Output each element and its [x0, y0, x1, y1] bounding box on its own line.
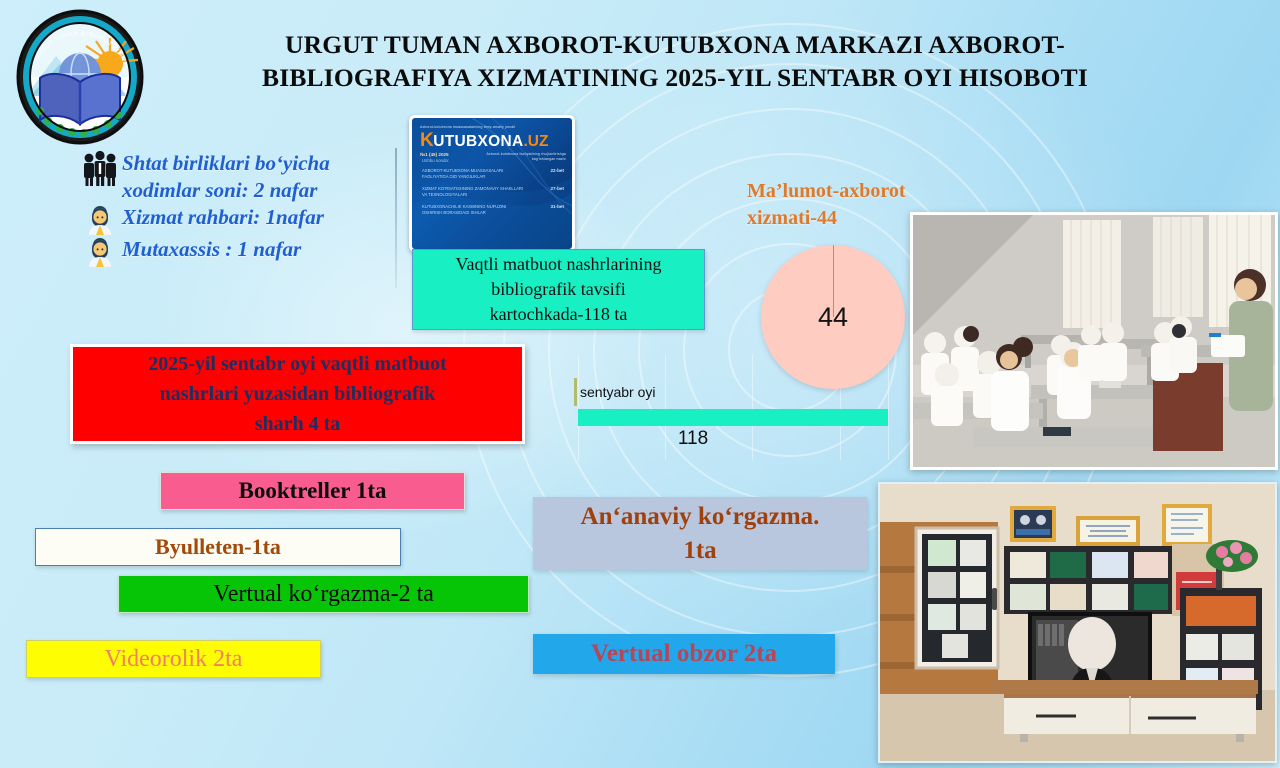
sharh-line-2: nashrlari yuzasidan bibliografik [148, 379, 447, 409]
group-of-people-icon [78, 150, 122, 188]
cover-item-text: KUTUBXONACHILIK KASBINING NUFUZINI OSHIR… [422, 204, 526, 215]
pie-title-line-1: Ma’lumot-axborot [747, 178, 977, 205]
stat-card-byulleten: Byulleten-1ta [35, 528, 401, 566]
sharh-line-3: sharh 4 ta [148, 409, 447, 439]
staff-item-head: Xizmat rahbari: 1nafar [78, 204, 408, 236]
pie-chart: 44 [761, 245, 905, 389]
ananaviy-line-1: An‘anaviy ko‘rgazma. [581, 500, 820, 534]
cover-masthead: Axborot-kutubxona muassasalarining ilmiy… [420, 125, 566, 162]
cover-brand-initial: K [420, 131, 433, 150]
cover-item-text: XIZMAT KO‘RSATISHNING ZAMONAVIY SHAKLLAR… [422, 186, 526, 197]
staff-headcount-line2: xodimlar soni: 2 nafar [122, 177, 330, 204]
cover-contents-item: KUTUBXONACHILIK KASBINING NUFUZINI OSHIR… [422, 204, 564, 215]
staff-item-headcount: Shtat birliklari bo‘yicha xodimlar soni:… [78, 150, 408, 204]
cover-item-page: 27-bet [550, 186, 564, 197]
stat-card-videorolik: Videorolik 2ta [26, 640, 321, 678]
title-line-2: BIBLIOGRAFIYA XIZMATINING 2025-YIL SENTA… [210, 61, 1140, 94]
stat-card-bibliografik-sharh: 2025-yil sentabr oyi vaqtli matbuot nash… [70, 344, 525, 444]
bar-chart-category-label: sentyabr oyi [580, 384, 655, 400]
stat-card-vertual-korgazma: Vertual ko‘rgazma-2 ta [118, 575, 529, 613]
library-emblem-logo: URGUT TUMAN AXBOROT-KUTUBXONA MARKAZI [14, 8, 146, 146]
page-title: URGUT TUMAN AXBOROT-KUTUBXONA MARKAZI AX… [210, 28, 1140, 94]
kartochka-line-3: kartochkada-118 ta [456, 302, 662, 327]
cover-contents: Ushbu sonda: AXBOROT-KUTUBXONA MUASSASAL… [422, 158, 564, 223]
staff-summary-block: Shtat birliklari bo‘yicha xodimlar soni:… [78, 150, 408, 268]
cover-item-text: AXBOROT-KUTUBXONA MUASSASALARI FAOLIYATI… [422, 168, 526, 179]
stat-card-booktreller: Booktreller 1ta [160, 472, 465, 510]
kutubxona-uz-journal-cover: Axborot-kutubxona muassasalarining ilmiy… [409, 115, 575, 252]
female-worker-icon [78, 204, 122, 236]
pie-data-label: 44 [761, 245, 905, 389]
bar-chart-bar [578, 409, 888, 426]
bar-chart-data-label: 118 [578, 428, 808, 450]
kartochka-line-2: bibliografik tavsifi [456, 277, 662, 302]
staff-headcount-text: Shtat birliklari bo‘yicha xodimlar soni:… [122, 150, 330, 204]
title-line-1: URGUT TUMAN AXBOROT-KUTUBXONA MARKAZI AX… [210, 28, 1140, 61]
infographic-poster: URGUT TUMAN AXBOROT-KUTUBXONA MARKAZI UR… [0, 0, 1280, 768]
cover-item-page: 22-bet [550, 168, 564, 179]
book-exhibition-display-photo [878, 482, 1277, 763]
stat-card-vertual-obzor: Vertual obzor 2ta [533, 634, 835, 674]
staff-item-specialist: Mutaxassis : 1 nafar [78, 236, 408, 268]
staff-headcount-line1: Shtat birliklari bo‘yicha [122, 150, 330, 177]
sharh-line-1: 2025-yil sentabr oyi vaqtli matbuot [148, 349, 447, 379]
cover-contents-item: XIZMAT KO‘RSATISHNING ZAMONAVIY SHAKLLAR… [422, 186, 564, 197]
cover-contents-label: Ushbu sonda: [422, 158, 564, 163]
cover-brand-word: UTUBXONA [433, 133, 523, 150]
kartochka-line-1: Vaqtli matbuot nashrlarining [456, 252, 662, 277]
vertical-divider [395, 148, 397, 288]
cover-contents-item: AXBOROT-KUTUBXONA MUASSASALARI FAOLIYATI… [422, 168, 564, 179]
ananaviy-line-2: 1ta [581, 534, 820, 568]
staff-specialist-text: Mutaxassis : 1 nafar [122, 236, 301, 263]
cover-tagline: Axborot-kutubxona muassasalarining ilmiy… [420, 125, 566, 130]
stat-card-kartochka: Vaqtli matbuot nashrlarining bibliografi… [412, 249, 705, 330]
staff-head-text: Xizmat rahbari: 1nafar [122, 204, 324, 231]
female-worker-icon [78, 236, 122, 268]
bar-chart-axis-marker [574, 378, 577, 406]
cover-item-page: 31-bet [550, 204, 564, 215]
cover-issue-number: №1 (45) 2025 [420, 152, 449, 157]
classroom-readers-photo [910, 212, 1278, 470]
cover-brand-tld: .UZ [523, 133, 548, 150]
stat-card-ananaviy-korgazma: An‘anaviy ko‘rgazma. 1ta [533, 497, 867, 570]
